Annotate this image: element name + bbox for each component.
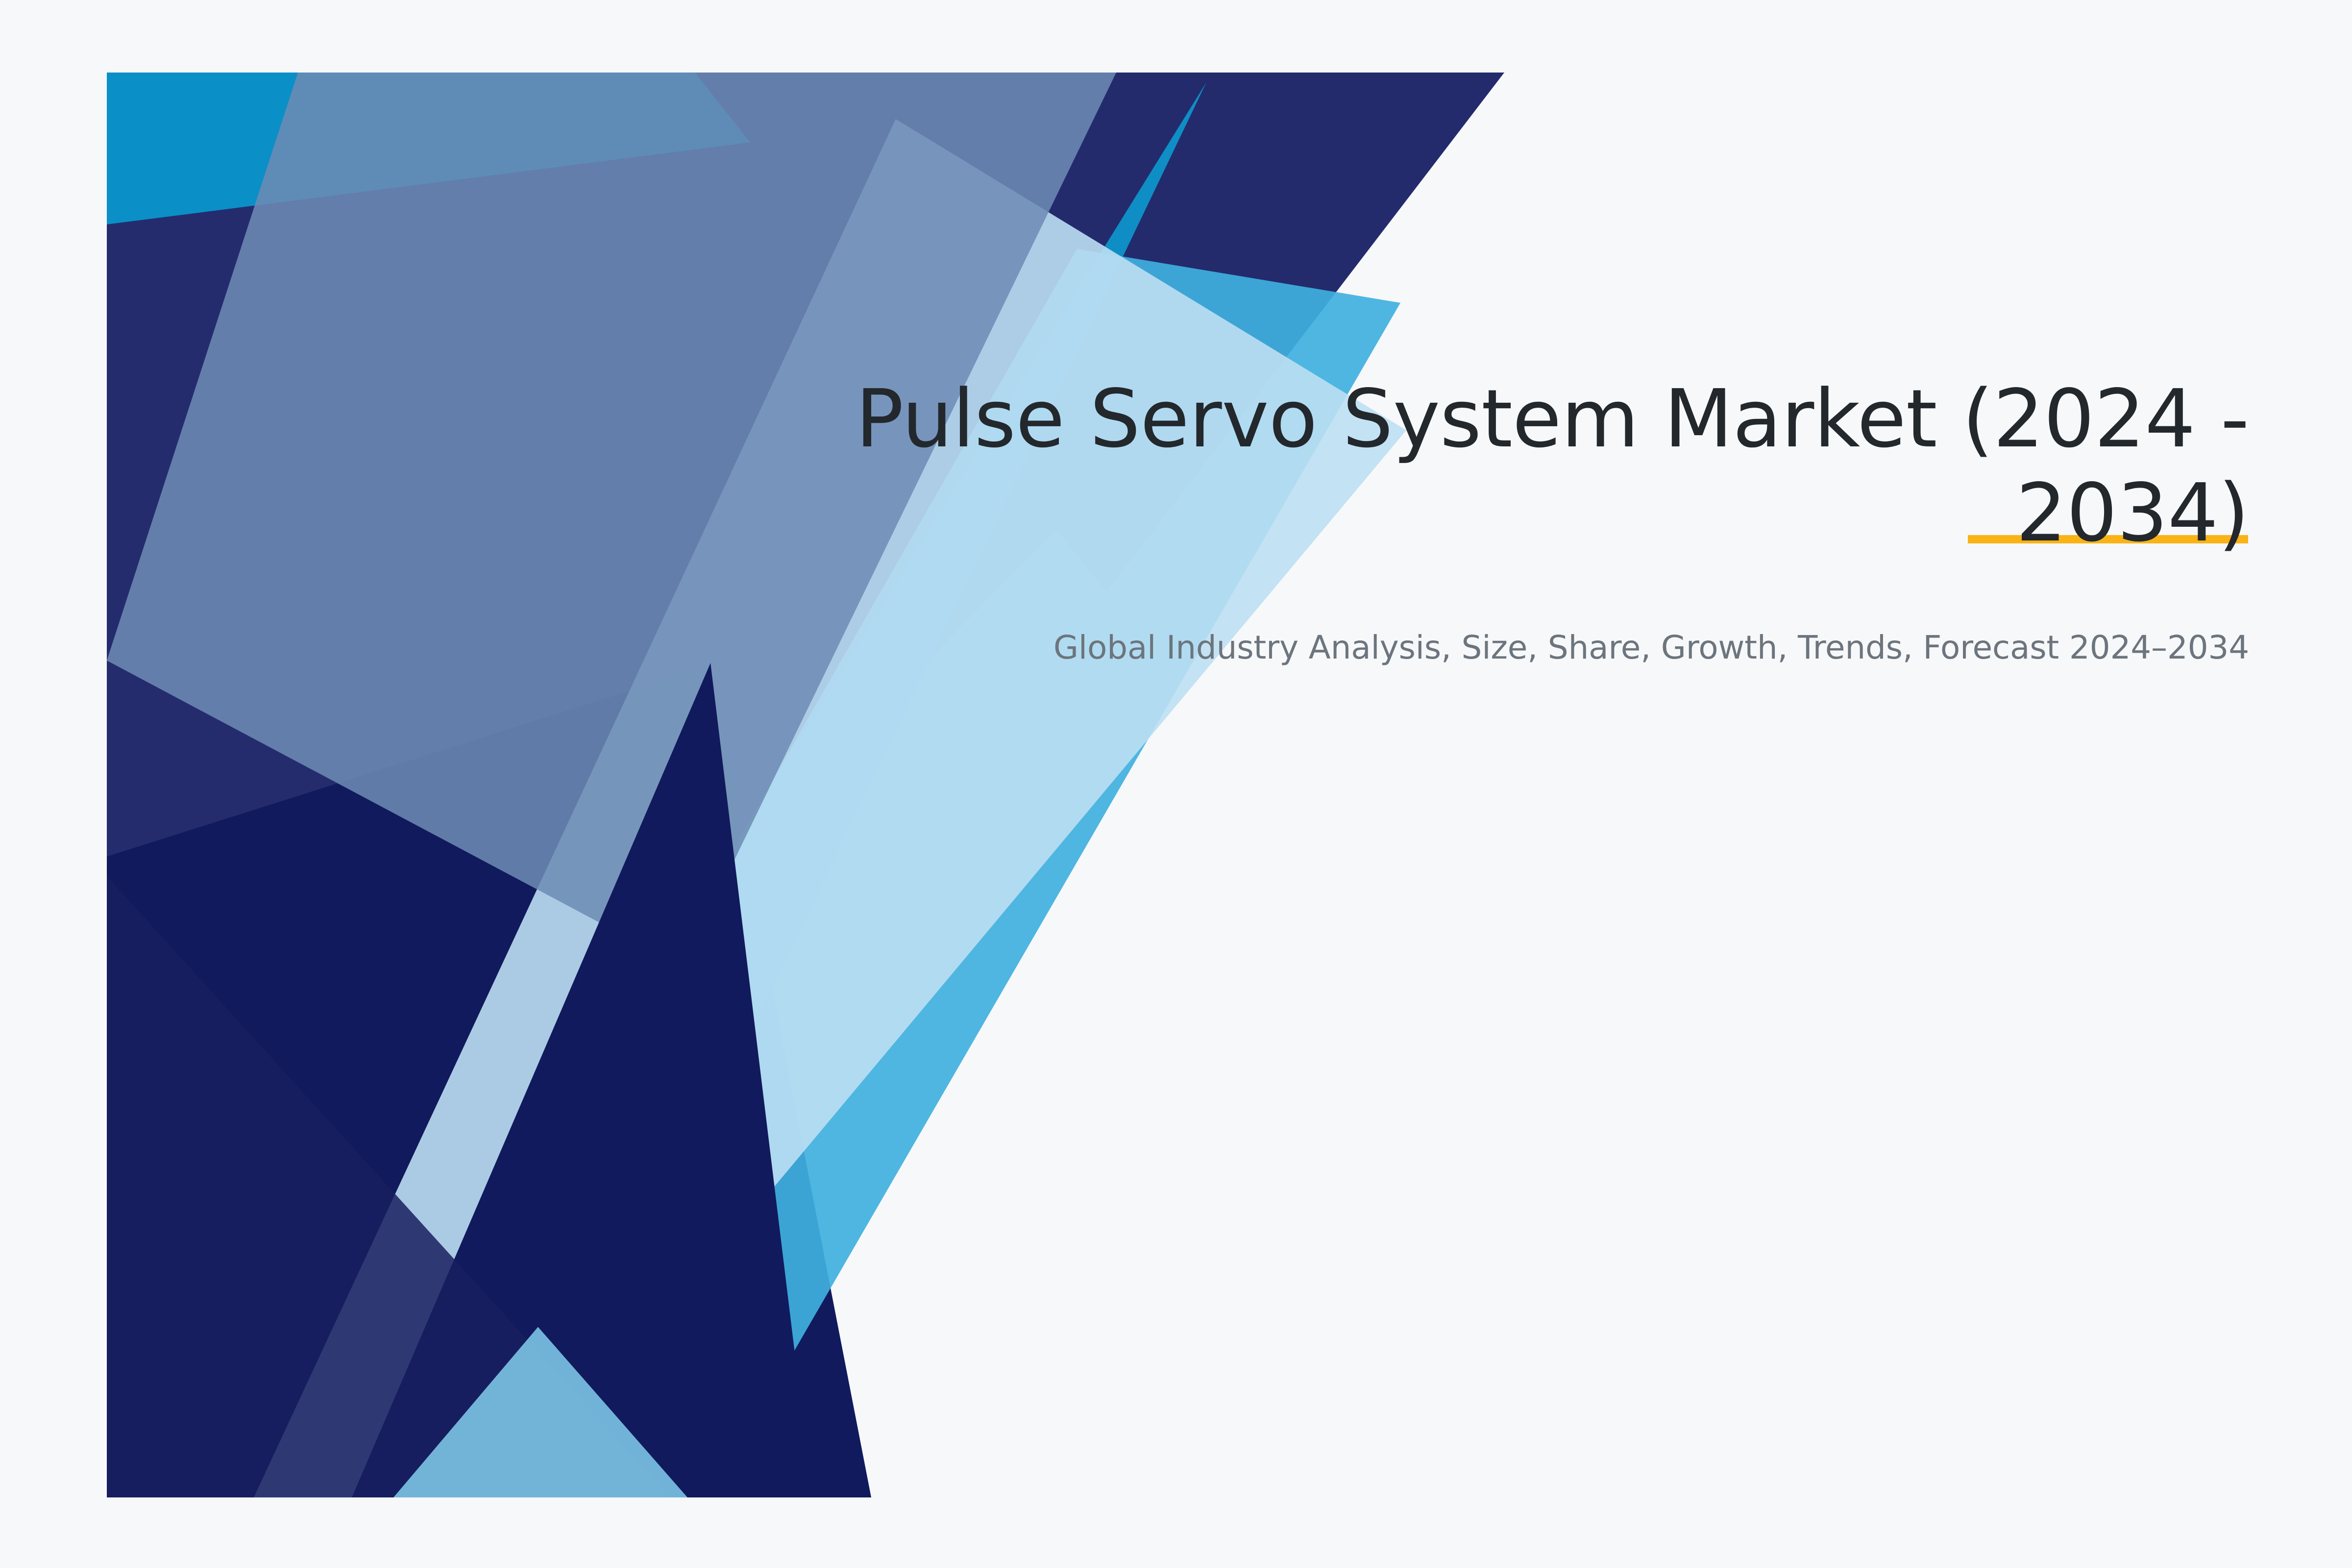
cover-artwork-svg	[107, 73, 1508, 1497]
page-subtitle: Global Industry Analysis, Size, Share, G…	[833, 561, 2249, 671]
page-title: Pulse Servo System Market (2024 - 2034)	[833, 372, 2249, 561]
abstract-geometric-cover-graphic	[107, 73, 1508, 1497]
cover-text-block: Pulse Servo System Market (2024 - 2034) …	[833, 372, 2249, 670]
title-wrap: Pulse Servo System Market (2024 - 2034)	[833, 372, 2249, 561]
cover-slide: Pulse Servo System Market (2024 - 2034) …	[0, 0, 2352, 1568]
